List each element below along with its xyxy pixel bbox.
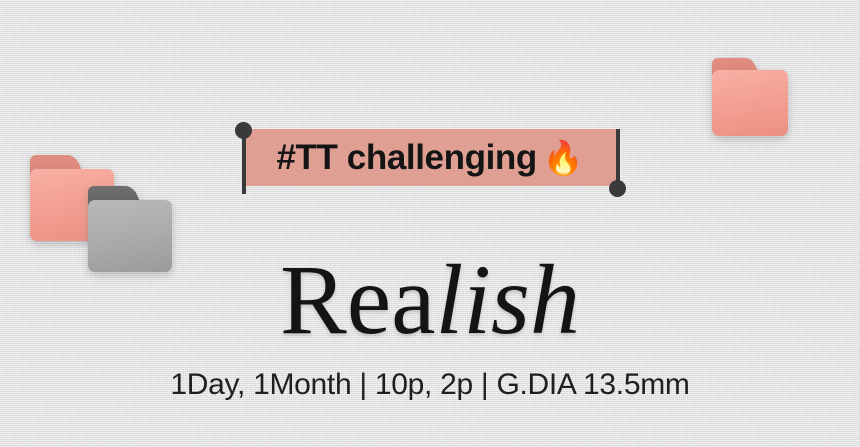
hashtag-badge: #TT challenging 🔥 xyxy=(231,118,629,196)
product-title-roman: Rea xyxy=(280,244,435,355)
fire-emoji: 🔥 xyxy=(543,141,584,174)
product-title-italic: lish xyxy=(435,244,579,355)
product-spec-subtitle: 1Day, 1Month | 10p, 2p | G.DIA 13.5mm xyxy=(0,368,860,402)
badge-text: #TT challenging xyxy=(276,138,536,178)
product-title: Realish xyxy=(0,250,860,350)
badge-label-row: #TT challenging 🔥 xyxy=(243,129,617,186)
folder-body xyxy=(712,70,788,136)
promo-banner: #TT challenging 🔥 Realish 1Day, 1Month |… xyxy=(0,0,860,447)
folder-icon-top-right xyxy=(712,58,788,136)
